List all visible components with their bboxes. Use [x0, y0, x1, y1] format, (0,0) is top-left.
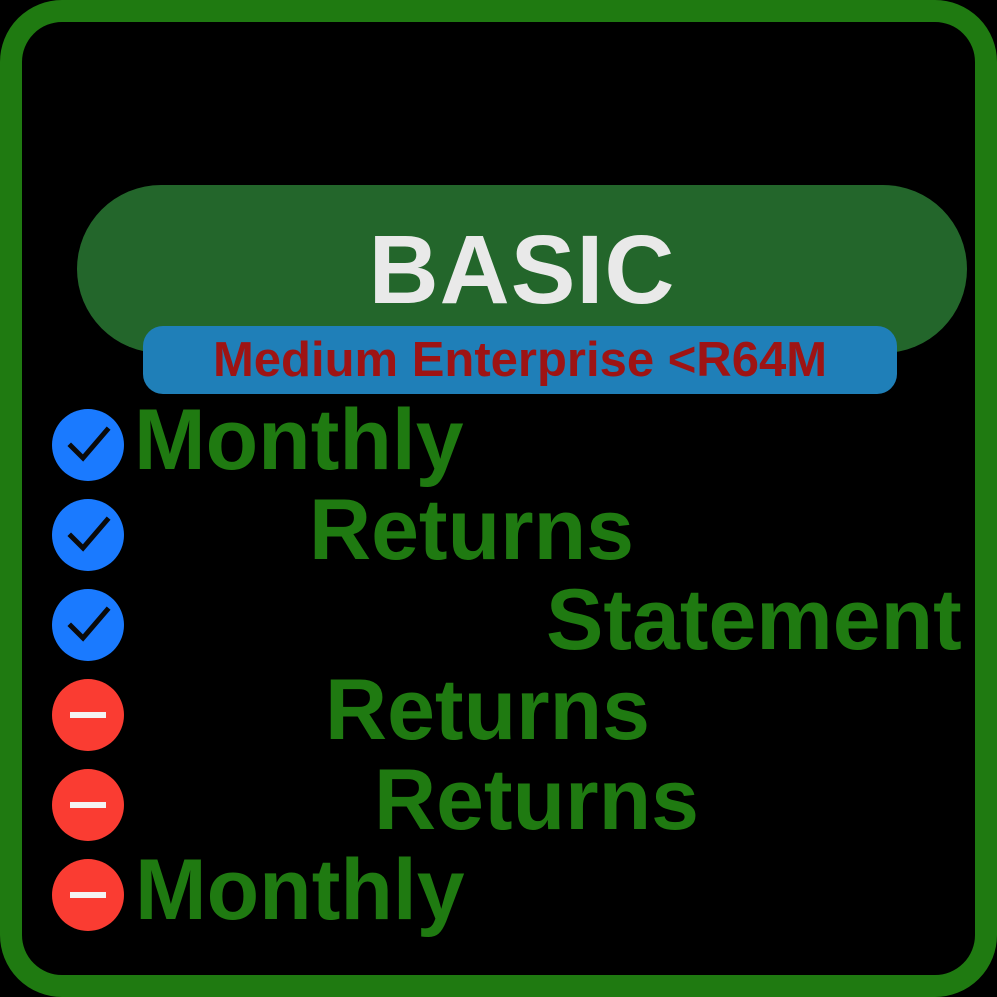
minus-circle-icon [52, 769, 124, 841]
feature-row: Statement [22, 580, 997, 670]
feature-row: Returns [22, 670, 997, 760]
feature-row: Returns [22, 760, 997, 850]
check-circle-icon [52, 409, 124, 481]
feature-label: Returns [309, 485, 634, 575]
feature-label: Returns [325, 665, 650, 755]
feature-list: MonthlyReturnsStatementReturnsReturnsMon… [22, 400, 997, 940]
plan-subtitle-badge: Medium Enterprise <R64M [143, 326, 897, 394]
feature-row: Returns [22, 490, 997, 580]
feature-label: Monthly [135, 845, 465, 935]
minus-circle-icon [52, 679, 124, 751]
feature-label: Statement [546, 575, 962, 665]
feature-label: Monthly [134, 395, 464, 485]
check-circle-icon [52, 589, 124, 661]
check-circle-icon [52, 499, 124, 571]
pricing-plan-card: BASIC Medium Enterprise <R64M MonthlyRet… [0, 0, 997, 997]
feature-row: Monthly [22, 850, 997, 940]
plan-title: BASIC [369, 221, 676, 318]
plan-subtitle-text: Medium Enterprise <R64M [213, 336, 827, 385]
feature-label: Returns [374, 755, 699, 845]
minus-circle-icon [52, 859, 124, 931]
feature-row: Monthly [22, 400, 997, 490]
